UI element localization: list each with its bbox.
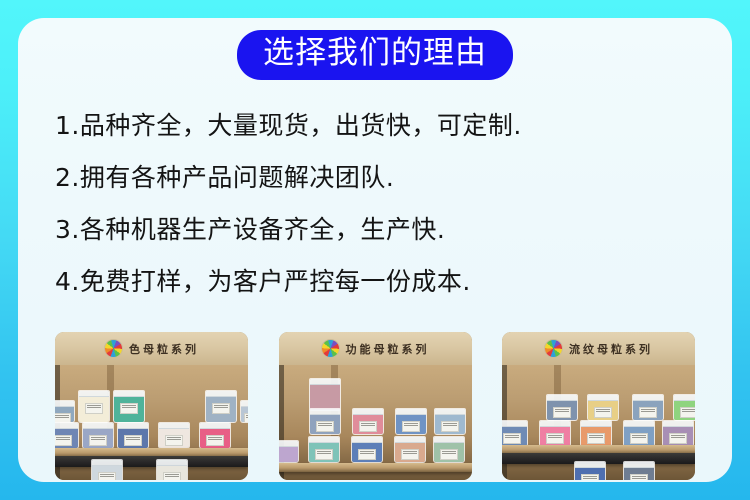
tub-row-bottom bbox=[574, 461, 655, 480]
tub-label bbox=[553, 407, 571, 418]
pellet-tub bbox=[117, 422, 149, 449]
pellet-tub bbox=[433, 436, 465, 463]
tub-label bbox=[630, 474, 648, 480]
pellet-tub bbox=[352, 408, 384, 435]
pellet-tub bbox=[394, 436, 426, 463]
pellet-tub bbox=[78, 390, 110, 423]
product-photo: 流纹母粒系列 bbox=[502, 332, 695, 480]
pellet-tub bbox=[539, 420, 571, 447]
pellet-tub bbox=[309, 408, 341, 435]
list-item: 4.免费打样，为客户严控每一份成本. bbox=[55, 256, 705, 308]
pellet-tub bbox=[574, 461, 606, 480]
tub-label bbox=[546, 433, 564, 444]
pellet-tub bbox=[156, 459, 188, 480]
pellet-tub bbox=[199, 422, 231, 449]
product-photo-strip: 色母粒系列 bbox=[55, 332, 695, 482]
pellet-tub bbox=[623, 420, 655, 447]
rainbow-circle-logo-icon bbox=[321, 339, 340, 358]
pellet-tub bbox=[55, 422, 79, 449]
pellet-tub bbox=[434, 408, 466, 435]
tub-label bbox=[503, 433, 521, 444]
tub-label bbox=[316, 421, 334, 432]
tub-label bbox=[587, 433, 605, 444]
tub-label bbox=[98, 472, 116, 480]
tub-label bbox=[206, 435, 224, 446]
pellet-tub bbox=[309, 378, 341, 411]
shelf-sign-label: 功能母粒系列 bbox=[346, 341, 430, 357]
pellet-tub bbox=[587, 394, 619, 421]
product-photo: 色母粒系列 bbox=[55, 332, 248, 480]
tub-label bbox=[594, 407, 612, 418]
pellet-tub bbox=[91, 459, 123, 480]
promo-banner: 选择我们的理由 1.品种齐全，大量现货，出货快，可定制. 2.拥有各种产品问题解… bbox=[0, 0, 750, 500]
tub-label bbox=[165, 435, 183, 446]
tub-row-lower bbox=[55, 422, 231, 449]
tub-label bbox=[212, 403, 230, 414]
tub-label bbox=[89, 435, 107, 446]
reasons-list: 1.品种齐全，大量现货，出货快，可定制. 2.拥有各种产品问题解决团队. 3.各… bbox=[55, 100, 705, 308]
shelf-sign-label: 流纹母粒系列 bbox=[569, 341, 653, 357]
title-container: 选择我们的理由 bbox=[18, 30, 732, 80]
tub-row-upper-right bbox=[205, 390, 248, 423]
tub-label bbox=[402, 421, 420, 432]
pellet-tub bbox=[546, 394, 578, 421]
pellet-tub bbox=[351, 436, 383, 463]
shelf-sign-label: 色母粒系列 bbox=[129, 341, 199, 357]
tub-label bbox=[630, 433, 648, 444]
list-item: 2.拥有各种产品问题解决团队. bbox=[55, 152, 705, 204]
pellet-tub bbox=[205, 390, 237, 423]
page-title: 选择我们的理由 bbox=[237, 30, 513, 80]
tub-label bbox=[639, 407, 657, 418]
tub-label bbox=[315, 449, 333, 460]
product-photo: 功能母粒系列 bbox=[279, 332, 472, 480]
pellet-tub bbox=[662, 420, 694, 447]
pellet-tub bbox=[632, 394, 664, 421]
content-panel: 选择我们的理由 1.品种齐全，大量现货，出货快，可定制. 2.拥有各种产品问题解… bbox=[18, 18, 732, 482]
tub-label bbox=[120, 403, 138, 414]
tub-row-middle bbox=[309, 408, 466, 435]
pellet-tub bbox=[113, 390, 145, 423]
tub-label bbox=[55, 435, 72, 446]
tub-label bbox=[441, 421, 459, 432]
pellet-tub bbox=[240, 400, 248, 423]
shelf-plank bbox=[279, 463, 472, 472]
tub-row-upper bbox=[55, 390, 145, 423]
tub-label bbox=[124, 435, 142, 446]
pellet-tub bbox=[623, 461, 655, 480]
tub-label bbox=[680, 407, 695, 418]
tub-label bbox=[244, 413, 248, 423]
pellet-tub bbox=[502, 420, 528, 447]
rainbow-circle-logo-icon bbox=[104, 339, 123, 358]
tub-label bbox=[359, 421, 377, 432]
tub-row-upper bbox=[546, 394, 695, 421]
list-item: 3.各种机器生产设备齐全，生产快. bbox=[55, 204, 705, 256]
pellet-tub bbox=[673, 394, 695, 421]
pellet-tub bbox=[158, 422, 190, 449]
tub-label bbox=[581, 474, 599, 480]
tub-label bbox=[440, 449, 458, 460]
pellet-tub bbox=[308, 436, 340, 463]
tub-label bbox=[85, 403, 103, 414]
rainbow-circle-logo-icon bbox=[544, 339, 563, 358]
tub-row-lower bbox=[279, 436, 465, 463]
shelf-sign: 色母粒系列 bbox=[55, 332, 248, 367]
tub-label bbox=[401, 449, 419, 460]
pellet-tub bbox=[395, 408, 427, 435]
pellet-tub bbox=[279, 440, 299, 463]
pellet-tub bbox=[55, 400, 75, 423]
shelf-sign: 功能母粒系列 bbox=[279, 332, 472, 367]
pellet-tub bbox=[580, 420, 612, 447]
tub-row-upper bbox=[309, 378, 341, 411]
tub-label bbox=[669, 433, 687, 444]
shelf-sign: 流纹母粒系列 bbox=[502, 332, 695, 367]
pellet-tub bbox=[82, 422, 114, 449]
tub-label bbox=[163, 472, 181, 480]
tub-label bbox=[358, 449, 376, 460]
list-item: 1.品种齐全，大量现货，出货快，可定制. bbox=[55, 100, 705, 152]
tub-row-bottom bbox=[91, 459, 188, 480]
tub-row-lower bbox=[502, 420, 694, 447]
